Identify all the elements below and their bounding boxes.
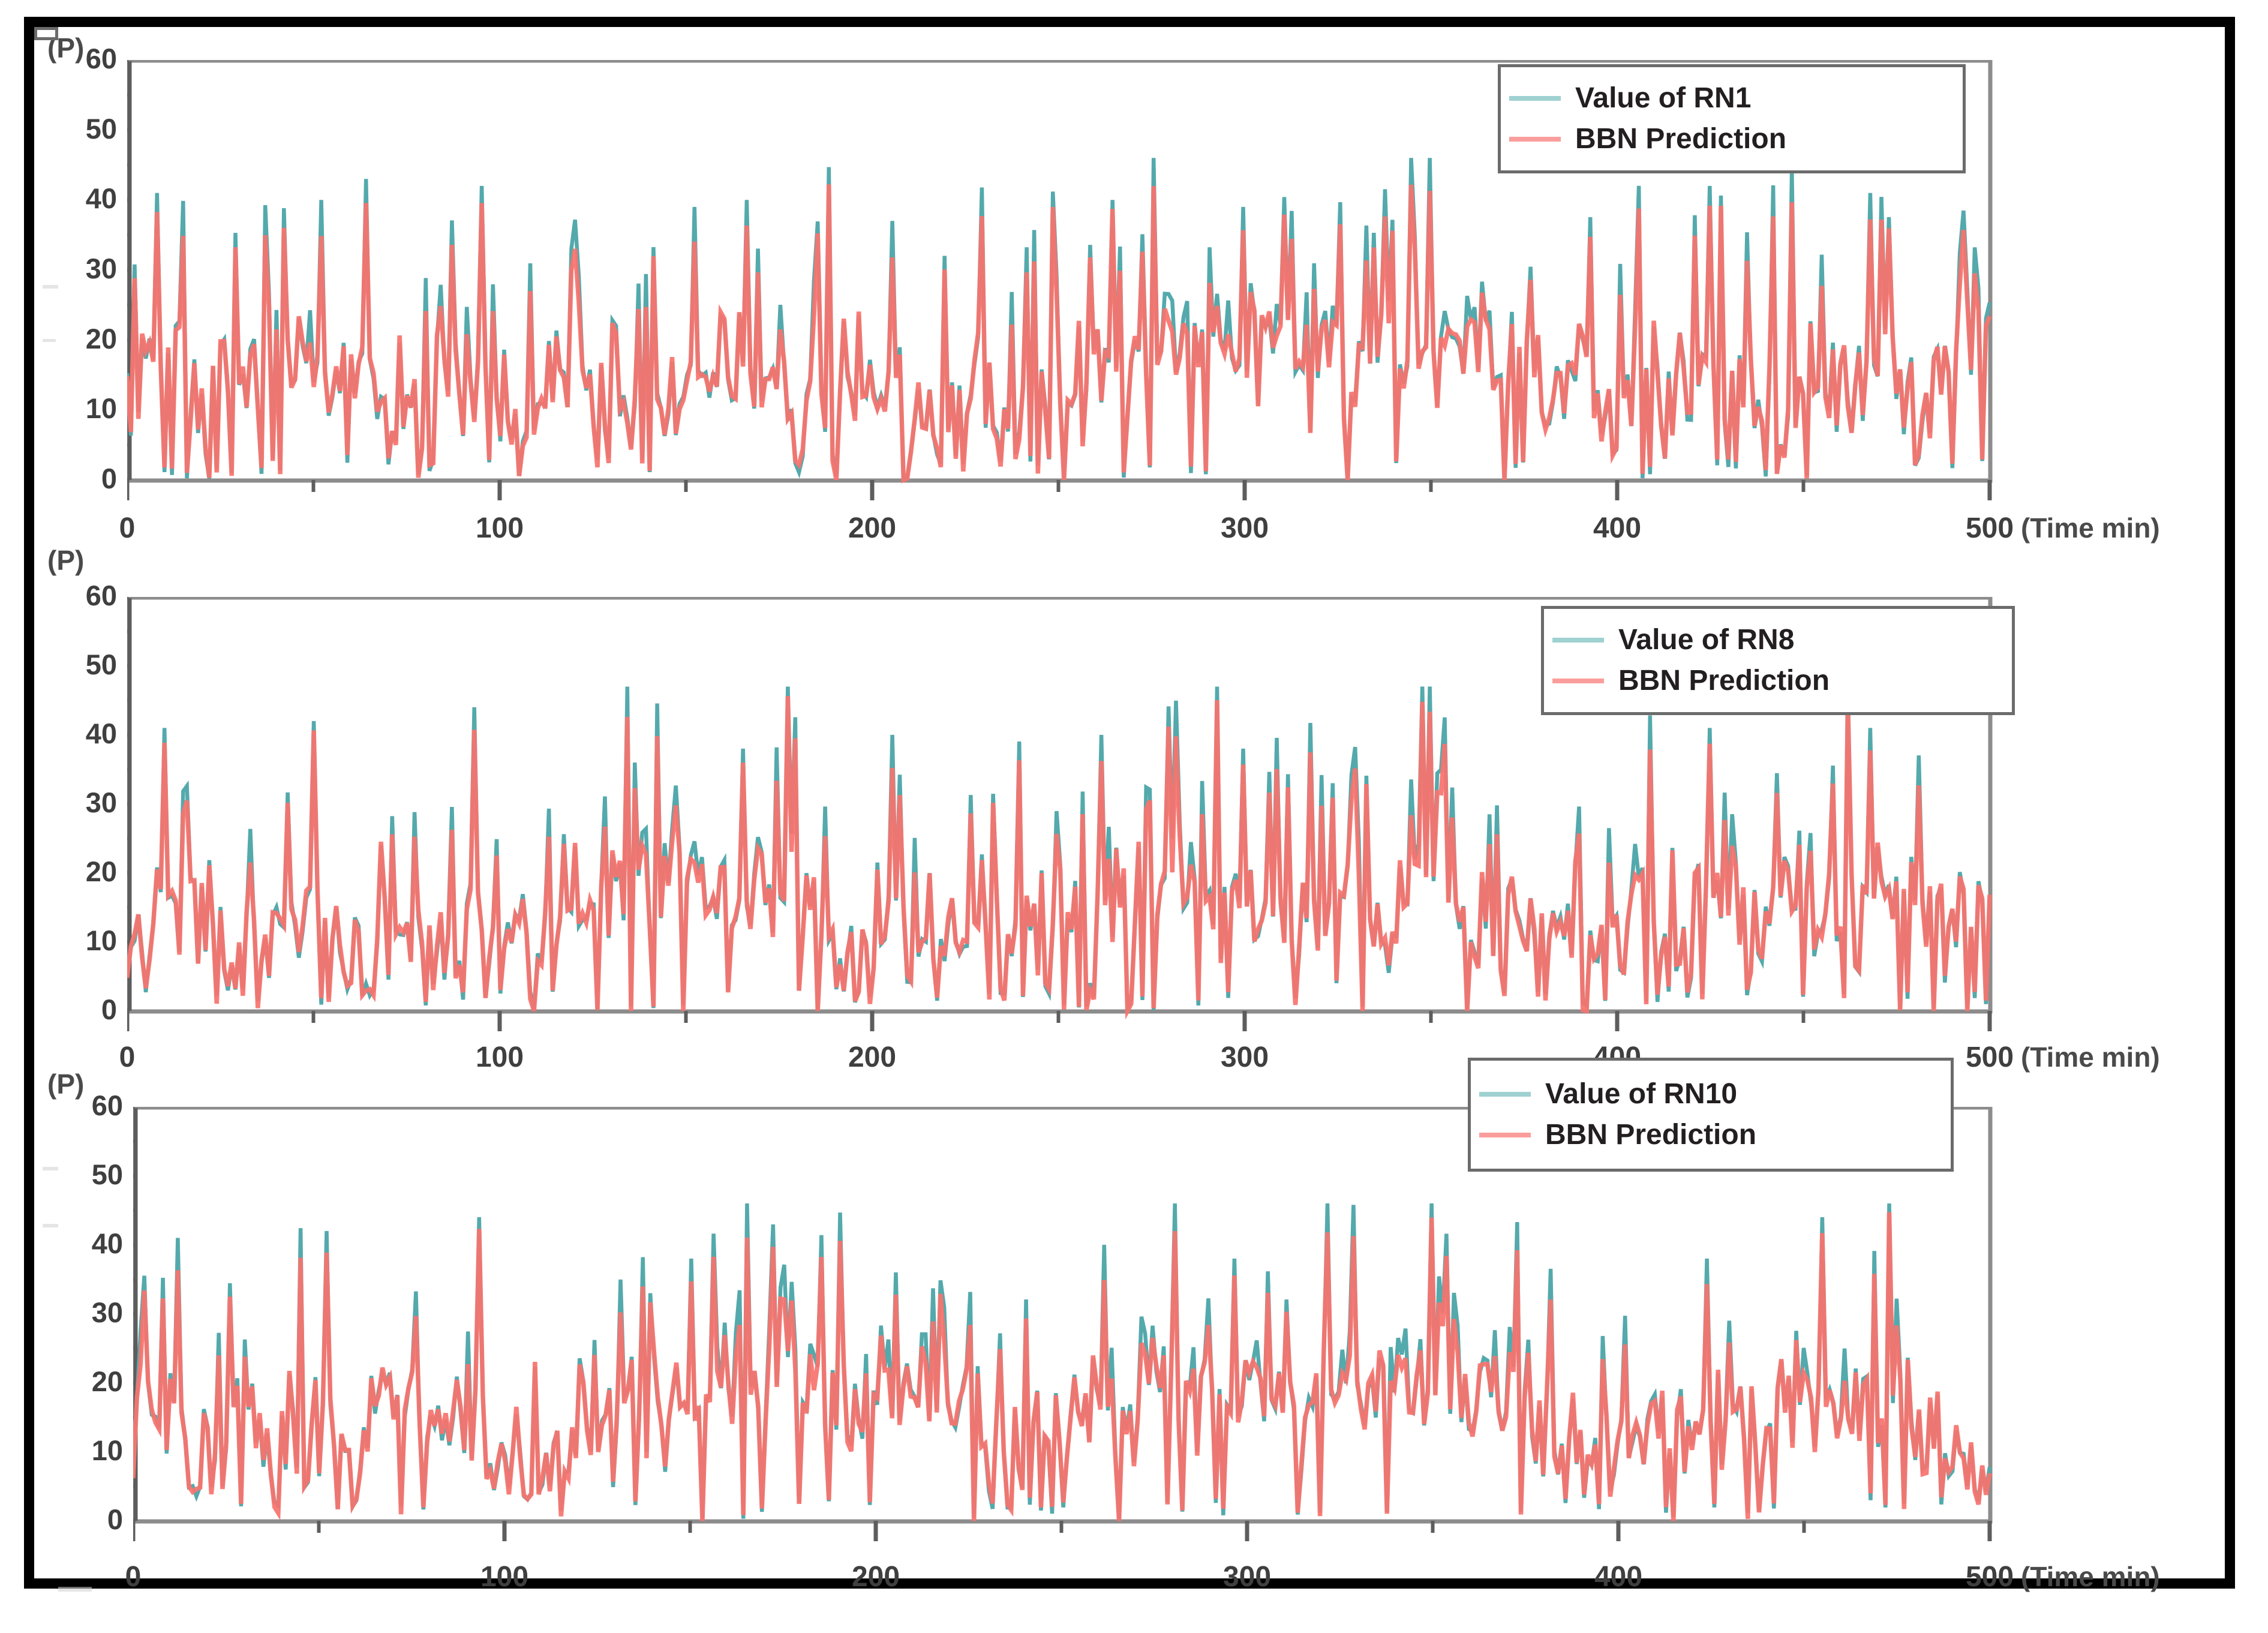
legend-item[interactable]: Value of RN8 [1552, 620, 2002, 661]
scan-artifact [43, 1224, 58, 1227]
x-tick-label: 100 [444, 1560, 564, 1593]
x-tick-label: 0 [67, 512, 187, 545]
y-tick-label: 10 [27, 924, 117, 957]
legend-swatch-observed-line-icon [1552, 638, 1604, 643]
y-tick-label: 20 [27, 855, 117, 888]
y-tick-label: 0 [33, 1503, 123, 1536]
x-tick-label: 300 [1187, 1560, 1307, 1593]
scan-artifact [43, 1167, 58, 1170]
y-tick-label: 10 [27, 392, 117, 425]
legend-chart-rn10: Value of RN10BBN Prediction [1468, 1058, 1954, 1172]
legend-label: Value of RN10 [1545, 1080, 1737, 1109]
legend-item[interactable]: BBN Prediction [1479, 1115, 1941, 1155]
y-unit-label-chart-rn10: (P) [47, 1068, 84, 1100]
legend-chart-rn8: Value of RN8BBN Prediction [1541, 606, 2015, 715]
x-tick-label: 400 [1557, 512, 1677, 545]
figure-root: (P) 6050403020100Value of RN1BBN Predict… [0, 0, 2268, 1633]
y-tick-label: 20 [27, 322, 117, 355]
legend-swatch-prediction-line-icon [1552, 679, 1604, 683]
y-tick-label: 0 [27, 993, 117, 1026]
legend-chart-rn1: Value of RN1BBN Prediction [1498, 64, 1966, 173]
legend-item[interactable]: Value of RN1 [1509, 78, 1953, 119]
y-tick-label: 30 [27, 786, 117, 819]
y-tick-label: 40 [27, 717, 117, 750]
legend-swatch-prediction-line-icon [1479, 1133, 1531, 1137]
x-tick-label: 200 [812, 1041, 932, 1074]
legend-swatch-prediction-line-icon [1509, 137, 1561, 142]
y-tick-label: 40 [27, 182, 117, 215]
series-prediction [133, 1212, 1990, 1521]
legend-label: Value of RN1 [1575, 84, 1751, 113]
y-tick-label: 30 [33, 1296, 123, 1329]
x-tick-label: 200 [812, 512, 932, 545]
y-tick-label: 50 [27, 648, 117, 681]
legend-item[interactable]: BBN Prediction [1509, 119, 1953, 160]
x-tick-label: 0 [67, 1041, 187, 1074]
x-tick-label: 200 [816, 1560, 936, 1593]
y-tick-label: 10 [33, 1434, 123, 1467]
legend-label: BBN Prediction [1618, 667, 1830, 695]
y-tick-label: 0 [27, 462, 117, 495]
scan-artifact [43, 339, 56, 342]
y-tick-label: 60 [27, 579, 117, 612]
x-axis-caption: (Time min) [2021, 1560, 2160, 1593]
x-tick-label: 100 [440, 512, 560, 545]
plot-canvas-chart-rn10 [133, 1107, 2014, 1569]
figure-outer-border: (P) 6050403020100Value of RN1BBN Predict… [24, 17, 2235, 1589]
legend-item[interactable]: BBN Prediction [1552, 661, 2002, 701]
x-tick-label: 300 [1185, 1041, 1305, 1074]
x-tick-label: 100 [440, 1041, 560, 1074]
legend-label: BBN Prediction [1545, 1121, 1756, 1149]
legend-item[interactable]: Value of RN10 [1479, 1074, 1941, 1115]
legend-swatch-observed-line-icon [1479, 1092, 1531, 1097]
y-tick-label: 40 [33, 1227, 123, 1260]
legend-label: BBN Prediction [1575, 125, 1786, 154]
x-axis-caption: (Time min) [2021, 1041, 2160, 1073]
y-tick-label: 50 [33, 1158, 123, 1191]
y-unit-label-chart-rn8: (P) [47, 544, 84, 577]
series-prediction [127, 184, 1990, 480]
legend-rn1 [34, 27, 58, 40]
x-axis-caption: (Time min) [2021, 512, 2160, 544]
y-tick-label: 30 [27, 252, 117, 285]
x-tick-label: 300 [1185, 512, 1305, 545]
legend-label: Value of RN8 [1618, 626, 1794, 655]
y-tick-label: 50 [27, 112, 117, 145]
x-tick-label: 400 [1558, 1560, 1678, 1593]
legend-swatch-observed-line-icon [1509, 96, 1561, 101]
y-tick-label: 60 [27, 42, 117, 75]
scan-artifact [43, 285, 58, 289]
y-tick-label: 20 [33, 1365, 123, 1398]
scan-artifact [58, 1587, 92, 1592]
